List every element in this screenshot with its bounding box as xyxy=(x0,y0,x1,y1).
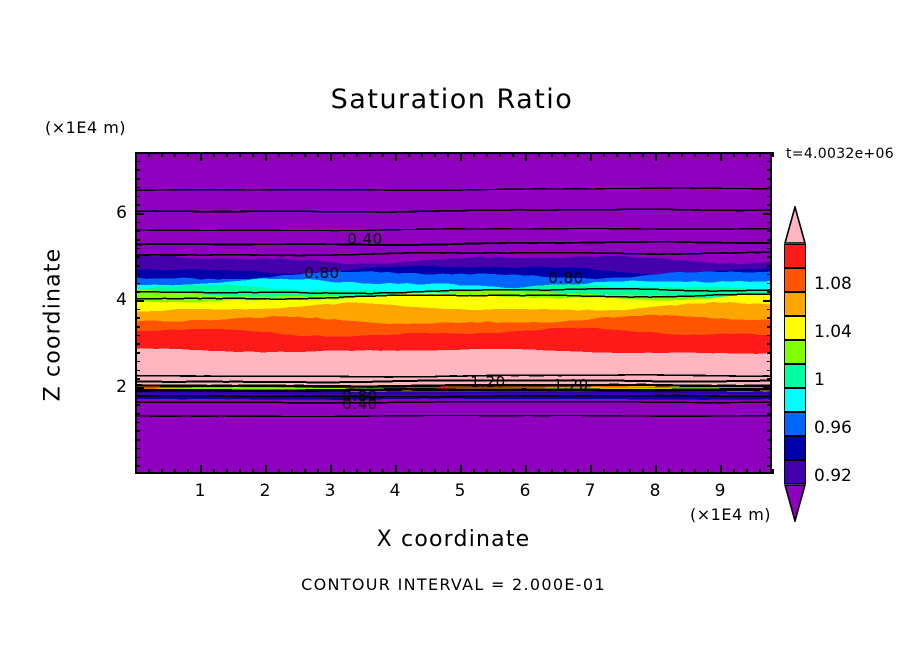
y-tick-left xyxy=(135,204,140,206)
x-tick-top xyxy=(629,152,631,157)
contour-value-label: 0.80 xyxy=(548,269,583,287)
y-tick-right xyxy=(767,413,772,415)
y-tick-right xyxy=(767,404,772,406)
x-tick-bottom xyxy=(603,469,605,474)
y-tick-left xyxy=(135,361,140,363)
figure-canvas: Saturation Ratio (×1E4 m) t=4.0032e+06 0… xyxy=(0,0,904,654)
y-tick-left xyxy=(135,291,140,293)
x-tick-top xyxy=(616,152,618,157)
y-tick-right xyxy=(767,283,772,285)
x-axis-unit-label: (×1E4 m) xyxy=(690,505,771,524)
y-tick-right xyxy=(767,361,772,363)
y-tick-right xyxy=(767,256,772,258)
x-tick-label: 5 xyxy=(455,481,466,501)
x-tick-top xyxy=(551,152,553,157)
x-tick-bottom xyxy=(525,465,527,474)
x-tick-bottom xyxy=(629,469,631,474)
colorbar-bottom-arrow xyxy=(784,484,806,522)
y-tick-left xyxy=(135,248,140,250)
x-tick-bottom xyxy=(486,469,488,474)
x-tick-top xyxy=(525,152,527,161)
x-tick-top xyxy=(759,152,761,157)
y-tick-left xyxy=(135,213,144,215)
x-tick-bottom xyxy=(369,469,371,474)
x-tick-top xyxy=(265,152,267,161)
x-tick-bottom xyxy=(577,469,579,474)
x-axis-title: X coordinate xyxy=(135,527,772,552)
y-tick-right xyxy=(767,196,772,198)
y-tick-left xyxy=(135,378,140,380)
x-tick-bottom xyxy=(278,469,280,474)
colorbar-tick-label: 0.96 xyxy=(814,418,852,438)
x-tick-bottom xyxy=(512,469,514,474)
x-tick-label: 9 xyxy=(715,481,726,501)
x-tick-top xyxy=(174,152,176,157)
colorbar xyxy=(784,206,806,502)
x-tick-top xyxy=(642,152,644,157)
y-tick-right xyxy=(767,439,772,441)
x-tick-bottom xyxy=(551,469,553,474)
y-tick-right xyxy=(767,422,772,424)
x-tick-bottom xyxy=(356,469,358,474)
y-tick-right xyxy=(767,430,772,432)
y-tick-left xyxy=(135,161,140,163)
x-tick-top xyxy=(252,152,254,157)
y-tick-right xyxy=(767,187,772,189)
y-tick-left xyxy=(135,335,140,337)
x-tick-bottom xyxy=(590,465,592,474)
colorbar-band xyxy=(784,340,806,364)
x-tick-bottom xyxy=(317,469,319,474)
colorbar-band xyxy=(784,412,806,436)
x-tick-label: 6 xyxy=(520,481,531,501)
x-tick-top xyxy=(460,152,462,161)
x-tick-top xyxy=(161,152,163,157)
y-tick-right xyxy=(767,161,772,163)
x-tick-label: 8 xyxy=(650,481,661,501)
y-tick-left xyxy=(135,396,140,398)
x-tick-bottom xyxy=(655,465,657,474)
x-tick-top xyxy=(369,152,371,157)
y-tick-left xyxy=(135,343,140,345)
y-tick-right xyxy=(767,274,772,276)
contour-value-label: 1.20 xyxy=(553,376,588,394)
y-tick-left xyxy=(135,457,140,459)
y-axis-unit-label: (×1E4 m) xyxy=(45,118,126,137)
x-tick-top xyxy=(499,152,501,157)
y-tick-right xyxy=(767,239,772,241)
colorbar-band xyxy=(784,316,806,340)
x-tick-bottom xyxy=(564,469,566,474)
y-tick-left xyxy=(135,256,140,258)
x-tick-bottom xyxy=(174,469,176,474)
contour-interval-note: CONTOUR INTERVAL = 2.000E-01 xyxy=(135,575,772,594)
y-tick-right xyxy=(767,457,772,459)
x-tick-bottom xyxy=(473,469,475,474)
contour-value-label: 0.80 xyxy=(304,264,339,282)
y-tick-left xyxy=(135,169,140,171)
colorbar-tick-label: 1 xyxy=(814,370,825,390)
x-tick-top xyxy=(317,152,319,157)
y-tick-left xyxy=(135,448,140,450)
y-tick-left xyxy=(135,387,144,389)
contour-plot-area xyxy=(135,152,772,474)
colorbar-top-arrow xyxy=(784,206,806,244)
x-tick-top xyxy=(720,152,722,161)
x-tick-bottom xyxy=(421,469,423,474)
y-tick-left xyxy=(135,422,140,424)
y-tick-left xyxy=(135,283,140,285)
x-tick-bottom xyxy=(239,469,241,474)
x-tick-top xyxy=(564,152,566,157)
x-tick-bottom xyxy=(226,469,228,474)
y-tick-right xyxy=(767,326,772,328)
y-tick-left xyxy=(135,230,140,232)
y-tick-right xyxy=(767,204,772,206)
x-tick-bottom xyxy=(330,465,332,474)
y-tick-label: 6 xyxy=(101,203,127,223)
x-tick-bottom xyxy=(772,469,774,474)
x-tick-bottom xyxy=(161,469,163,474)
x-tick-label: 4 xyxy=(390,481,401,501)
y-tick-right xyxy=(767,465,772,467)
colorbar-tick-label: 1.08 xyxy=(814,274,852,294)
y-tick-left xyxy=(135,187,140,189)
x-tick-bottom xyxy=(434,469,436,474)
y-tick-right xyxy=(767,317,772,319)
x-tick-bottom xyxy=(200,465,202,474)
y-tick-left xyxy=(135,196,140,198)
x-tick-top xyxy=(200,152,202,161)
x-tick-top xyxy=(434,152,436,157)
y-tick-right xyxy=(767,448,772,450)
x-tick-top xyxy=(408,152,410,157)
x-tick-top xyxy=(486,152,488,157)
x-tick-top xyxy=(239,152,241,157)
x-tick-top xyxy=(577,152,579,157)
x-tick-top xyxy=(343,152,345,157)
x-tick-top xyxy=(356,152,358,157)
colorbar-band xyxy=(784,436,806,460)
contour-field xyxy=(137,154,770,472)
y-tick-left xyxy=(135,309,140,311)
x-tick-top xyxy=(772,152,774,157)
x-tick-label: 2 xyxy=(260,481,271,501)
y-tick-right xyxy=(767,222,772,224)
x-tick-top xyxy=(668,152,670,157)
x-tick-label: 7 xyxy=(585,481,596,501)
colorbar-band xyxy=(784,388,806,412)
y-tick-left xyxy=(135,326,140,328)
x-tick-bottom xyxy=(681,469,683,474)
x-tick-top xyxy=(694,152,696,157)
y-tick-left xyxy=(135,404,140,406)
y-tick-right xyxy=(767,248,772,250)
x-tick-bottom xyxy=(382,469,384,474)
y-tick-left xyxy=(135,465,140,467)
x-tick-top xyxy=(538,152,540,157)
y-tick-right xyxy=(767,291,772,293)
y-tick-right xyxy=(767,335,772,337)
y-tick-left xyxy=(135,274,140,276)
y-tick-right xyxy=(767,178,772,180)
x-tick-top xyxy=(304,152,306,157)
x-tick-bottom xyxy=(304,469,306,474)
x-tick-top xyxy=(226,152,228,157)
x-tick-bottom xyxy=(538,469,540,474)
x-tick-top xyxy=(447,152,449,157)
colorbar-band xyxy=(784,292,806,316)
x-tick-top xyxy=(148,152,150,157)
y-tick-right xyxy=(767,309,772,311)
x-tick-top xyxy=(512,152,514,157)
y-tick-left xyxy=(135,352,140,354)
x-tick-bottom xyxy=(759,469,761,474)
x-tick-bottom xyxy=(499,469,501,474)
x-tick-bottom xyxy=(187,469,189,474)
x-tick-top xyxy=(707,152,709,157)
timestamp-label: t=4.0032e+06 xyxy=(786,146,894,162)
y-tick-right xyxy=(763,213,772,215)
x-tick-bottom xyxy=(733,469,735,474)
x-tick-top xyxy=(291,152,293,157)
y-tick-right xyxy=(763,387,772,389)
x-tick-top xyxy=(603,152,605,157)
y-tick-left xyxy=(135,222,140,224)
x-tick-bottom xyxy=(408,469,410,474)
x-tick-bottom xyxy=(694,469,696,474)
x-tick-top xyxy=(395,152,397,161)
x-tick-top xyxy=(330,152,332,161)
x-tick-bottom xyxy=(343,469,345,474)
x-tick-bottom xyxy=(746,469,748,474)
x-tick-bottom xyxy=(447,469,449,474)
y-tick-right xyxy=(767,343,772,345)
x-tick-label: 1 xyxy=(195,481,206,501)
x-tick-top xyxy=(278,152,280,157)
x-tick-bottom xyxy=(460,465,462,474)
y-tick-left xyxy=(135,300,144,302)
y-tick-left xyxy=(135,413,140,415)
y-axis-title: Z coordinate xyxy=(41,245,66,405)
x-tick-bottom xyxy=(642,469,644,474)
colorbar-band xyxy=(784,268,806,292)
colorbar-band xyxy=(784,244,806,268)
x-tick-bottom xyxy=(265,465,267,474)
contour-value-label: 1.20 xyxy=(470,373,505,391)
x-tick-bottom xyxy=(720,465,722,474)
x-tick-bottom xyxy=(213,469,215,474)
contour-value-label: 0.40 xyxy=(342,395,377,413)
x-tick-bottom xyxy=(668,469,670,474)
x-tick-bottom xyxy=(616,469,618,474)
x-tick-top xyxy=(421,152,423,157)
x-tick-top xyxy=(213,152,215,157)
x-tick-top xyxy=(681,152,683,157)
x-tick-top xyxy=(590,152,592,161)
y-tick-left xyxy=(135,239,140,241)
x-tick-bottom xyxy=(252,469,254,474)
y-tick-label: 2 xyxy=(101,377,127,397)
x-tick-bottom xyxy=(707,469,709,474)
y-tick-left xyxy=(135,178,140,180)
x-tick-label: 3 xyxy=(325,481,336,501)
x-tick-top xyxy=(473,152,475,157)
colorbar-band xyxy=(784,460,806,484)
y-tick-left xyxy=(135,370,140,372)
x-tick-top xyxy=(382,152,384,157)
x-tick-bottom xyxy=(148,469,150,474)
colorbar-tick-label: 0.92 xyxy=(814,466,852,486)
y-tick-right xyxy=(763,300,772,302)
x-tick-top xyxy=(187,152,189,157)
x-tick-bottom xyxy=(395,465,397,474)
y-tick-left xyxy=(135,430,140,432)
y-tick-right xyxy=(767,396,772,398)
y-tick-left xyxy=(135,439,140,441)
x-tick-top xyxy=(733,152,735,157)
y-tick-right xyxy=(767,352,772,354)
y-tick-right xyxy=(767,378,772,380)
colorbar-tick-label: 1.04 xyxy=(814,322,852,342)
y-tick-label: 4 xyxy=(101,290,127,310)
y-tick-right xyxy=(767,169,772,171)
y-tick-right xyxy=(767,265,772,267)
colorbar-band xyxy=(784,364,806,388)
y-tick-left xyxy=(135,317,140,319)
x-tick-bottom xyxy=(291,469,293,474)
x-tick-top xyxy=(746,152,748,157)
page-title: Saturation Ratio xyxy=(0,84,904,115)
contour-value-label: 0.40 xyxy=(347,230,382,248)
y-tick-right xyxy=(767,370,772,372)
x-tick-top xyxy=(655,152,657,161)
y-tick-left xyxy=(135,265,140,267)
y-tick-right xyxy=(767,230,772,232)
